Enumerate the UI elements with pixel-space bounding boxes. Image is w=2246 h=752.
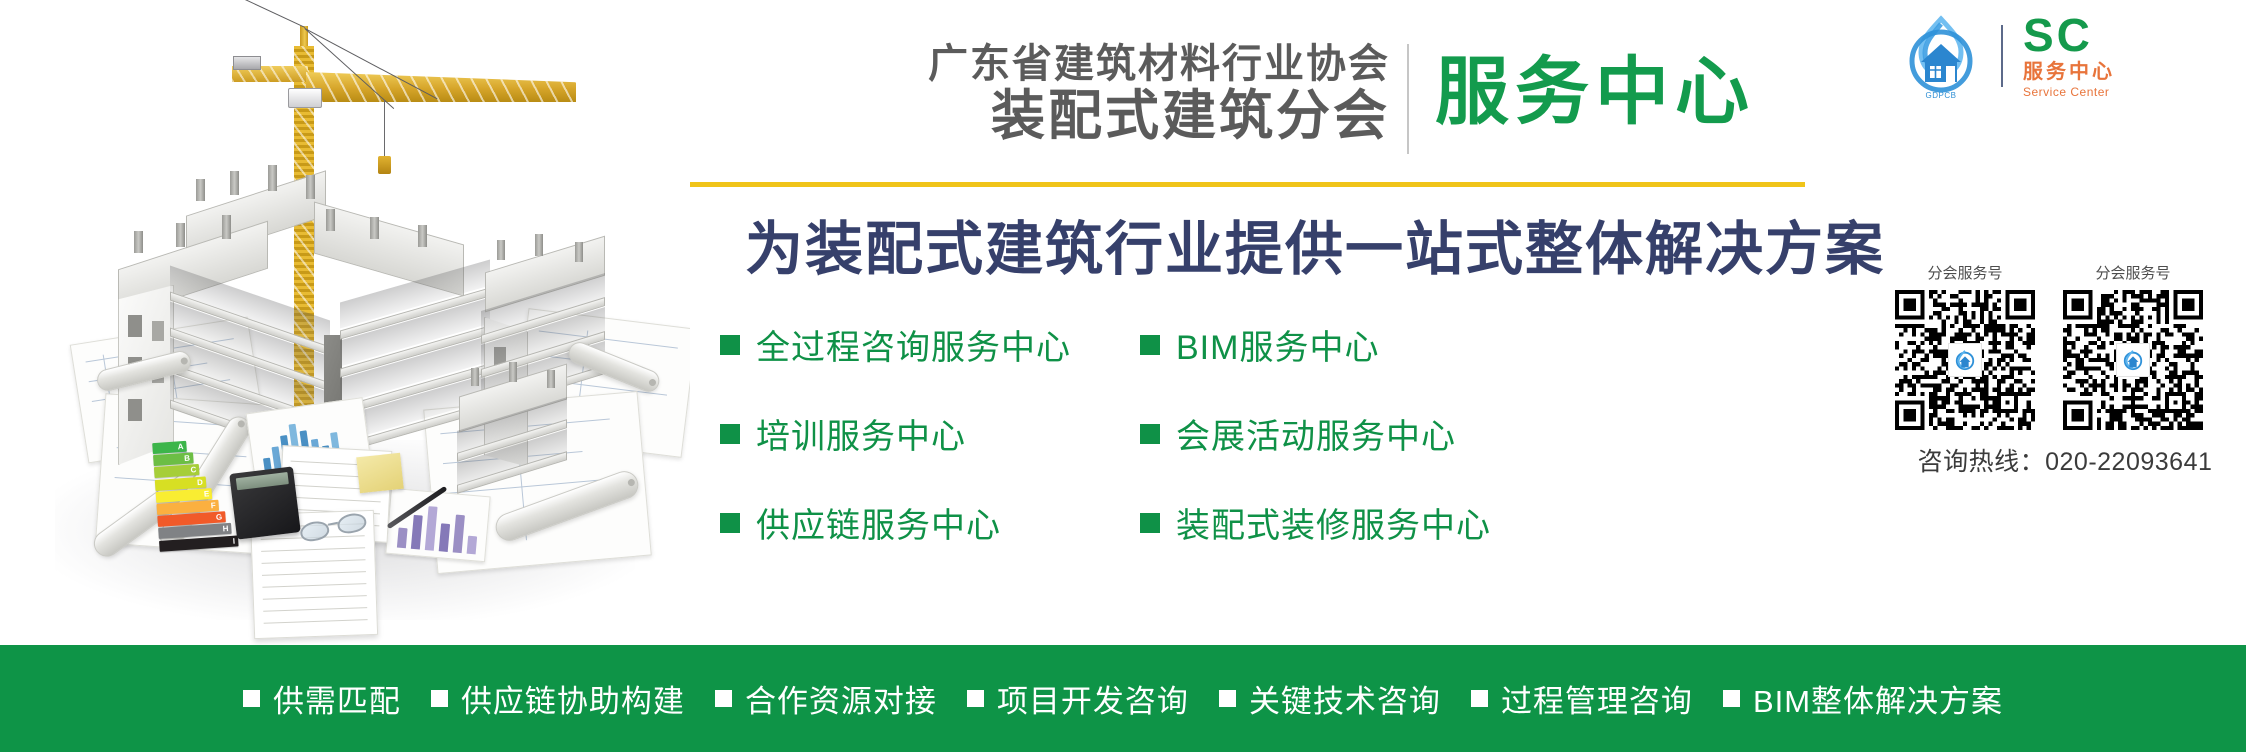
banner-content: 广东省建筑材料行业协会 装配式建筑分会 服务中心 为装配式建筑行业提供一站式整体… [690,0,2246,645]
bullet-square-icon [720,424,740,444]
bullet-square-icon [1471,690,1488,707]
calculator-keypad [238,488,294,534]
calculator [229,466,301,539]
bottom-bar-label: 关键技术咨询 [1249,676,1441,721]
stub-column [222,215,231,239]
qr-code-row: 分会服务号 分会服务号 [1895,262,2235,430]
stub-column [230,171,239,195]
bullet-square-icon [1140,424,1160,444]
bottom-bar-item[interactable]: 项目开发咨询 [967,676,1189,721]
bullet-square-icon [1723,690,1740,707]
energy-rating-letter: E [204,488,210,499]
qr-code-label: 分会服务号 [1895,262,2035,283]
bullet-square-icon [720,335,740,355]
stub-column [196,179,205,201]
association-title: 广东省建筑材料行业协会 装配式建筑分会 [690,42,1390,146]
energy-rating-letter: H [222,523,229,534]
lens-right [336,511,368,536]
bottom-bar-label: 供需匹配 [273,676,401,721]
bottom-bar-label: BIM整体解决方案 [1753,676,2003,721]
stub-column [306,175,315,199]
stub-column [370,217,379,239]
title-vertical-divider [1407,44,1409,154]
bottom-bar-item[interactable]: 过程管理咨询 [1471,676,1693,721]
window [128,399,142,421]
bullet-square-icon [243,690,260,707]
service-item-label: 装配式装修服务中心 [1176,498,1491,547]
crane-hook-line [384,100,385,158]
bottom-bar-label: 过程管理咨询 [1501,676,1693,721]
energy-rating-letter: B [184,453,191,464]
lens-left [299,519,331,544]
energy-rating-letter: I [232,535,235,546]
service-center-heading: 服务中心 [1435,48,1755,137]
logo-abbr: SC [2023,13,2115,58]
service-item[interactable]: 会展活动服务中心 [1140,409,1560,458]
bullet-square-icon [1219,690,1236,707]
service-item-label: 会展活动服务中心 [1176,409,1456,458]
service-item-label: BIM服务中心 [1176,320,1379,369]
stub-column [326,209,335,231]
crane-jib [306,72,576,102]
bottom-bar-item[interactable]: 供应链协助构建 [431,676,685,721]
crane-counterweight [233,56,261,70]
qr-code-label: 分会服务号 [2063,262,2203,283]
energy-rating-letter: D [197,476,204,487]
energy-rating-letter: F [210,500,216,511]
crane-tie-rear [234,0,305,28]
stub-column [418,225,427,247]
logo-text: SC 服务中心 Service Center [2023,13,2115,98]
window [152,321,164,341]
qr-code-image[interactable] [2063,290,2203,430]
bullet-square-icon [720,513,740,533]
qr-center-logo-icon [1948,343,1982,377]
service-item[interactable]: 全过程咨询服务中心 [720,320,1140,369]
crane-hook [378,156,391,174]
bottom-bar-label: 项目开发咨询 [997,676,1189,721]
bottom-bar-item[interactable]: 供需匹配 [243,676,401,721]
construction-illustration: ABCDEFGHI [0,0,690,645]
bullet-square-icon [715,690,732,707]
stub-column [268,165,277,191]
emblem-caption: GDPCB [1909,91,1973,100]
qr-code-block[interactable]: 分会服务号 [2063,262,2203,430]
energy-rating-band: A [152,441,187,454]
logo-divider [2001,25,2003,87]
service-item-label: 全过程咨询服务中心 [756,320,1071,369]
bottom-bar-label: 合作资源对接 [745,676,937,721]
bar-chart-paper-purple [385,488,490,562]
crane-operator-cab [288,88,322,108]
energy-rating-letter: G [216,512,223,523]
qr-center-logo-icon [2116,343,2150,377]
qr-code-block[interactable]: 分会服务号 [1895,262,2035,430]
bullet-square-icon [1140,335,1160,355]
gdpcb-emblem-icon: GDPCB [1895,14,1987,98]
qr-code-area: 分会服务号 分会服务号 [1895,262,2235,478]
energy-rating-letter: C [190,465,197,476]
bottom-service-bar: 供需匹配 供应链协助构建 合作资源对接 项目开发咨询 关键技术咨询 过程管理咨询… [0,645,2246,752]
bottom-bar-item[interactable]: 合作资源对接 [715,676,937,721]
logo-cn-name: 服务中心 [2023,59,2115,85]
service-item-label: 培训服务中心 [756,409,966,458]
association-name-line2: 装配式建筑分会 [690,87,1390,146]
hotline-text: 咨询热线：020-22093641 [1895,442,2235,478]
service-center-logo[interactable]: GDPCB SC 服务中心 Service Center [1895,8,2235,104]
service-item[interactable]: BIM服务中心 [1140,320,1560,369]
service-item[interactable]: 培训服务中心 [720,409,1140,458]
logo-en-name: Service Center [2023,85,2115,99]
window [128,315,142,337]
sticky-note [356,453,404,493]
association-name-line1: 广东省建筑材料行业协会 [690,42,1390,87]
bullet-square-icon [431,690,448,707]
service-item[interactable]: 装配式装修服务中心 [1140,498,1560,547]
page-headline: 为装配式建筑行业提供一站式整体解决方案 [690,202,1940,286]
service-item-label: 供应链服务中心 [756,498,1001,547]
bullet-square-icon [967,690,984,707]
qr-code-image[interactable] [1895,290,2035,430]
service-center-list: 全过程咨询服务中心 BIM服务中心 培训服务中心 会展活动服务中心 供应链服务中… [720,320,1830,547]
service-item[interactable]: 供应链服务中心 [720,498,1140,547]
calculator-screen [236,472,289,490]
energy-rating-letter: A [177,441,184,452]
stub-column [176,223,185,247]
yellow-divider [690,182,1805,187]
promotional-banner: ABCDEFGHI [0,0,2246,752]
bottom-bar-item[interactable]: 关键技术咨询 [1219,676,1441,721]
stub-column [134,231,143,253]
bullet-square-icon [1140,513,1160,533]
bottom-bar-item[interactable]: BIM整体解决方案 [1723,676,2003,721]
bottom-bar-label: 供应链协助构建 [461,676,685,721]
